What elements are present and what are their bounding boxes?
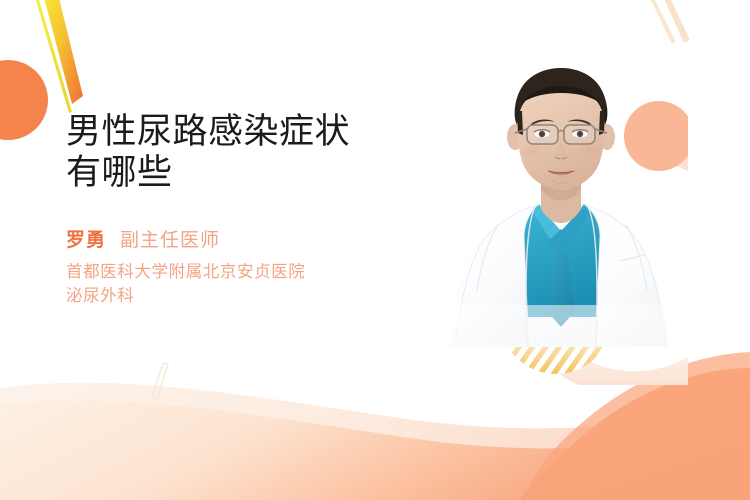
page-title: 男性尿路感染症状 有哪些 bbox=[66, 112, 426, 193]
doctor-name-row: 罗勇 副主任医师 bbox=[66, 225, 426, 252]
doctor-affiliation: 首都医科大学附属北京安贞医院 泌尿外科 bbox=[66, 261, 426, 309]
promo-card: 男性尿路感染症状 有哪些 罗勇 副主任医师 首都医科大学附属北京安贞医院 泌尿外… bbox=[0, 0, 750, 500]
doctor-name: 罗勇 bbox=[66, 225, 106, 252]
coat-bottom-fade bbox=[438, 305, 688, 385]
doctor-meta: 罗勇 副主任医师 首都医科大学附属北京安贞医院 泌尿外科 bbox=[66, 225, 426, 309]
doctor-portrait-illustration bbox=[438, 55, 688, 385]
top-right-stripe-b bbox=[662, 0, 690, 43]
orange-circle-left bbox=[0, 60, 48, 140]
doctor-title: 副主任医师 bbox=[120, 225, 220, 252]
text-block: 男性尿路感染症状 有哪些 罗勇 副主任医师 首都医科大学附属北京安贞医院 泌尿外… bbox=[66, 112, 426, 309]
doctor-portrait bbox=[438, 55, 688, 385]
